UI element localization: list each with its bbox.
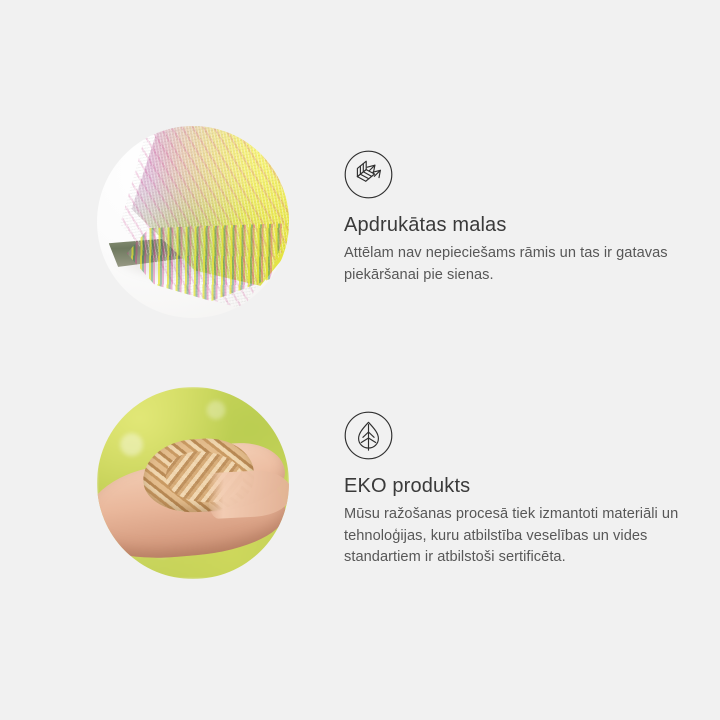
eco-scene — [97, 387, 289, 579]
product-features-page: Apdrukātas malas Attēlam nav nepieciešam… — [0, 0, 720, 720]
folded-canvas-edge-icon — [344, 150, 393, 199]
canvas-scene — [97, 126, 289, 318]
canvas-corner-photo — [97, 126, 289, 318]
hands-with-wood-chips-photo — [97, 387, 289, 579]
feature-description: Attēlam nav nepieciešams rāmis un tas ir… — [344, 243, 694, 286]
feature-eco-product: EKO produkts Mūsu ražošanas procesā tiek… — [0, 387, 720, 587]
leaf-icon — [344, 411, 393, 460]
canvas-drip-texture — [123, 223, 289, 306]
feature-text-block: EKO produkts Mūsu ražošanas procesā tiek… — [344, 387, 694, 569]
feature-title: EKO produkts — [344, 473, 694, 499]
feature-text-block: Apdrukātas malas Attēlam nav nepieciešam… — [344, 126, 694, 286]
feature-description: Mūsu ražošanas procesā tiek izmantoti ma… — [344, 504, 694, 569]
feature-printed-edges: Apdrukātas malas Attēlam nav nepieciešam… — [0, 126, 720, 326]
feature-title: Apdrukātas malas — [344, 212, 694, 238]
